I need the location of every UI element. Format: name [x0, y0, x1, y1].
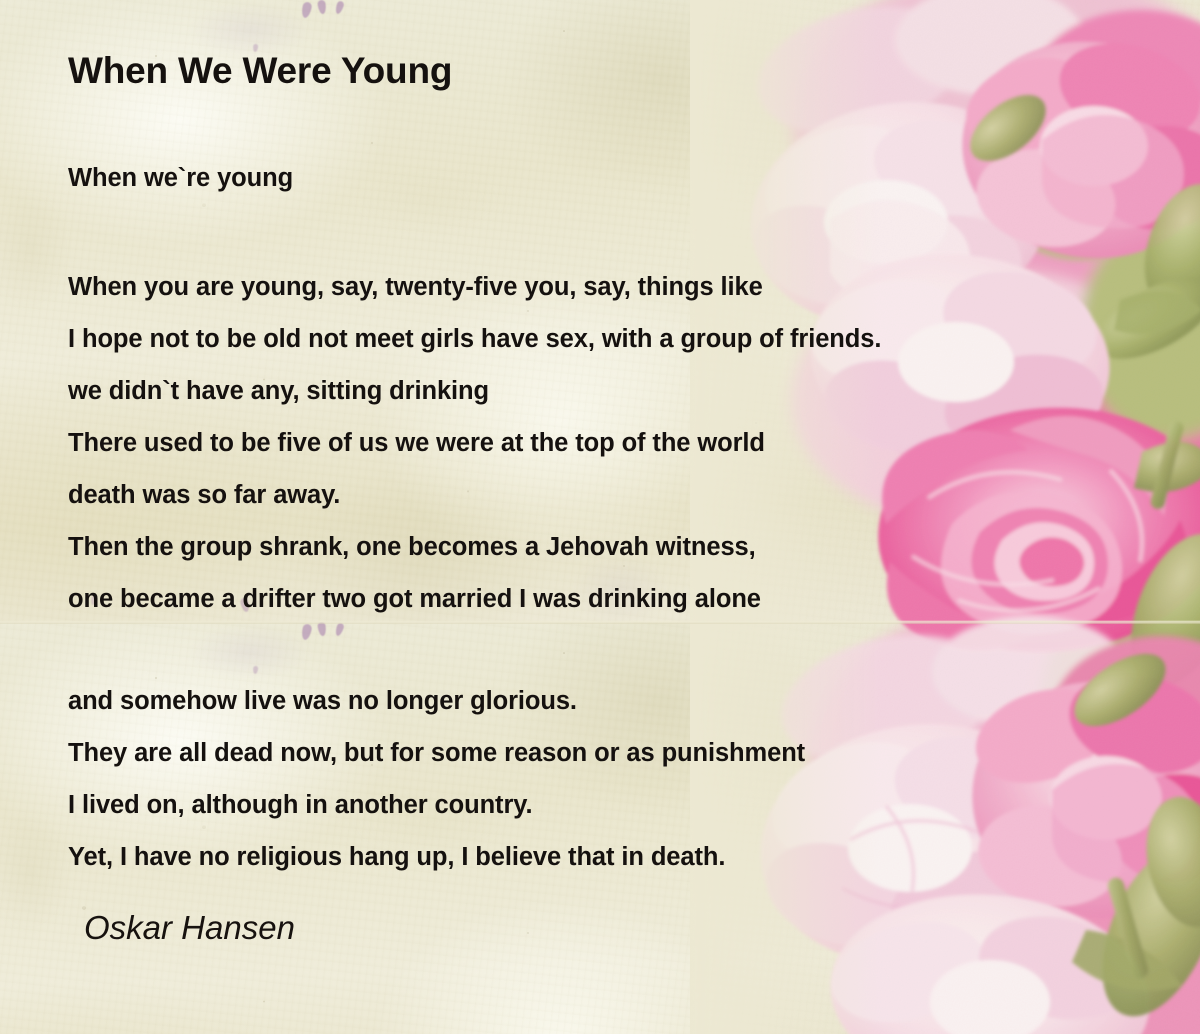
poem-line: Then the group shrank, one becomes a Jeh…	[68, 521, 881, 573]
poem-line: death was so far away.	[68, 469, 881, 521]
poem-line: When you are young, say, twenty-five you…	[68, 261, 881, 313]
poem-line: one became a drifter two got married I w…	[68, 573, 881, 625]
page-title: When We Were Young	[68, 50, 452, 92]
poem-stanza-opening: When we`re young	[68, 152, 293, 204]
poem-line: When we`re young	[68, 152, 293, 204]
poem-text-layer: When We Were Young When we`re young When…	[0, 0, 1200, 1034]
poem-line: and somehow live was no longer glorious.	[68, 675, 805, 727]
poem-line: Yet, I have no religious hang up, I beli…	[68, 831, 805, 883]
poem-line: I hope not to be old not meet girls have…	[68, 313, 881, 365]
poem-line: I lived on, although in another country.	[68, 779, 805, 831]
poem-stanza-main: When you are young, say, twenty-five you…	[68, 261, 881, 625]
author-signature: Oskar Hansen	[84, 909, 295, 947]
poem-stanza-closing: and somehow live was no longer glorious.…	[68, 675, 805, 883]
poem-line: we didn`t have any, sitting drinking	[68, 365, 881, 417]
poem-card: When We Were Young When we`re young When…	[0, 0, 1200, 1034]
poem-line: They are all dead now, but for some reas…	[68, 727, 805, 779]
poem-line: There used to be five of us we were at t…	[68, 417, 881, 469]
